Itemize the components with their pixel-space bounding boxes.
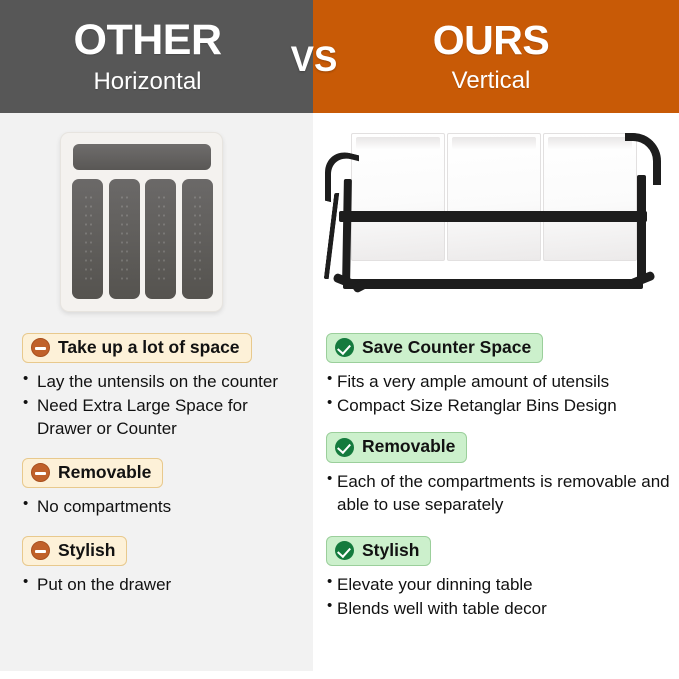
list-item: Fits a very ample amount of utensils bbox=[326, 370, 671, 393]
list-item: Elevate your dinning table bbox=[326, 573, 671, 596]
tray-slot-group bbox=[72, 179, 213, 299]
ours-feature-2-badge: Removable bbox=[326, 432, 467, 462]
ours-feature-3-badge-label: Stylish bbox=[362, 541, 419, 560]
header-banner: OTHER Horizontal OURS Vertical VS bbox=[0, 0, 679, 113]
ours-feature-list: Save Counter Space Fits a very ample amo… bbox=[313, 333, 679, 620]
column-divider bbox=[313, 113, 315, 679]
other-feature-3: Stylish Put on the drawer bbox=[22, 536, 303, 596]
column-ours: Save Counter Space Fits a very ample amo… bbox=[313, 113, 679, 679]
comparison-infographic: OTHER Horizontal OURS Vertical VS bbox=[0, 0, 679, 679]
minus-circle-icon bbox=[31, 541, 50, 560]
ceramic-bin bbox=[351, 133, 445, 261]
other-feature-3-badge: Stylish bbox=[22, 536, 127, 566]
other-product-image bbox=[0, 113, 313, 331]
ours-feature-1-badge: Save Counter Space bbox=[326, 333, 543, 363]
other-feature-list: Take up a lot of space Lay the untensils… bbox=[0, 333, 313, 596]
ours-feature-2-badge-label: Removable bbox=[362, 437, 455, 456]
ours-feature-3: Stylish Elevate your dinning table Blend… bbox=[326, 536, 671, 620]
tray-slot bbox=[145, 179, 176, 299]
ours-feature-1-points: Fits a very ample amount of utensils Com… bbox=[326, 370, 671, 417]
list-item: Lay the untensils on the counter bbox=[22, 370, 303, 393]
tray-slot bbox=[72, 179, 103, 299]
caddy-right-post bbox=[637, 175, 646, 283]
list-item: Compact Size Retanglar Bins Design bbox=[326, 394, 671, 417]
list-item: Put on the drawer bbox=[22, 573, 303, 596]
header-ours-subtitle: Vertical bbox=[452, 68, 531, 94]
other-feature-2-badge-label: Removable bbox=[58, 463, 151, 482]
tray-top-compartment bbox=[73, 144, 211, 170]
list-item: No compartments bbox=[22, 495, 303, 518]
other-feature-1-points: Lay the untensils on the counter Need Ex… bbox=[22, 370, 303, 440]
tray-slot bbox=[182, 179, 213, 299]
ours-feature-1: Save Counter Space Fits a very ample amo… bbox=[326, 333, 671, 417]
drawer-organizer-tray-graphic bbox=[60, 132, 223, 312]
other-feature-2: Removable No compartments bbox=[22, 458, 303, 518]
list-item: Blends well with table decor bbox=[326, 597, 671, 620]
ceramic-bin bbox=[543, 133, 637, 261]
vs-label: VS bbox=[286, 42, 342, 77]
other-feature-2-points: No compartments bbox=[22, 495, 303, 518]
minus-circle-icon bbox=[31, 463, 50, 482]
ceramic-bin bbox=[447, 133, 541, 261]
check-circle-icon bbox=[335, 338, 354, 357]
tray-slot bbox=[109, 179, 140, 299]
ours-feature-3-badge: Stylish bbox=[326, 536, 431, 566]
ours-feature-2: Removable Each of the compartments is re… bbox=[326, 432, 671, 515]
other-feature-1-badge: Take up a lot of space bbox=[22, 333, 252, 363]
ours-product-image bbox=[313, 113, 679, 331]
header-other-title: OTHER bbox=[74, 19, 222, 62]
other-feature-3-badge-label: Stylish bbox=[58, 541, 115, 560]
ours-feature-2-points: Each of the compartments is removable an… bbox=[326, 470, 671, 516]
header-ours-side: OURS Vertical bbox=[313, 0, 679, 113]
list-item: Each of the compartments is removable an… bbox=[326, 470, 671, 516]
ceramic-bin-caddy-graphic bbox=[325, 127, 665, 302]
caddy-top-rail bbox=[339, 211, 647, 222]
ours-feature-3-points: Elevate your dinning table Blends well w… bbox=[326, 573, 671, 620]
other-feature-1: Take up a lot of space Lay the untensils… bbox=[22, 333, 303, 441]
ours-feature-1-badge-label: Save Counter Space bbox=[362, 338, 531, 357]
caddy-left-handle-icon bbox=[325, 147, 359, 209]
other-feature-1-badge-label: Take up a lot of space bbox=[58, 338, 240, 357]
other-feature-2-badge: Removable bbox=[22, 458, 163, 488]
bin-group bbox=[351, 133, 637, 261]
minus-circle-icon bbox=[31, 338, 50, 357]
header-other-side: OTHER Horizontal bbox=[0, 0, 313, 113]
caddy-bottom-rail bbox=[343, 279, 643, 289]
column-other: Take up a lot of space Lay the untensils… bbox=[0, 113, 313, 671]
header-ours-title: OURS bbox=[433, 20, 549, 61]
comparison-body: Take up a lot of space Lay the untensils… bbox=[0, 113, 679, 679]
list-item: Need Extra Large Space for Drawer or Cou… bbox=[22, 394, 303, 440]
check-circle-icon bbox=[335, 438, 354, 457]
caddy-left-post bbox=[342, 179, 352, 283]
header-other-subtitle: Horizontal bbox=[93, 69, 201, 95]
other-feature-3-points: Put on the drawer bbox=[22, 573, 303, 596]
check-circle-icon bbox=[335, 541, 354, 560]
